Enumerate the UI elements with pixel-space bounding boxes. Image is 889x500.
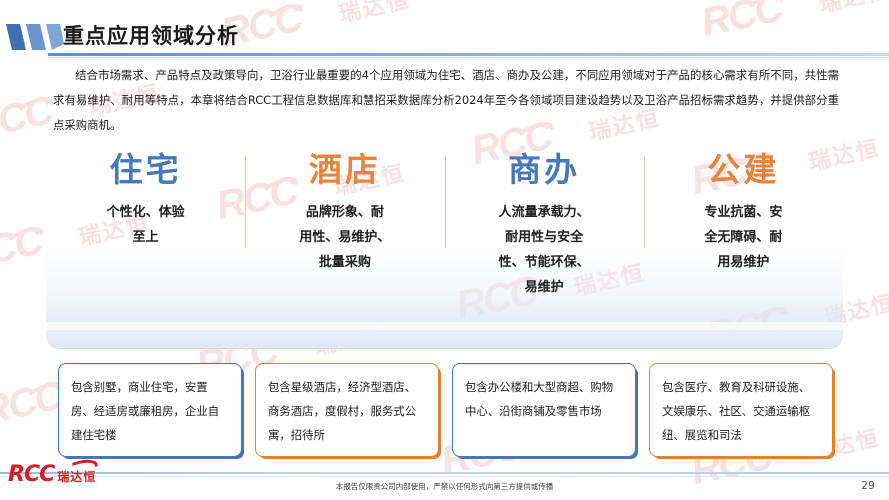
category-title: 酒店 xyxy=(253,150,436,190)
detail-box-public-building: 包含医疗、教育及科研设施、文娱康乐、社区、交通运输枢纽、展览和司法 xyxy=(649,363,833,457)
category-description: 专业抗菌、安 全无障碍、耐 用易维护 xyxy=(652,200,835,275)
detail-boxes: 包含别墅，商业住宅，安置房、经适房或廉租房，企业自建住宅楼 包含星级酒店，经济型… xyxy=(58,363,833,457)
double-chevron-mark-icon xyxy=(6,24,64,52)
slide-header: 重点应用领域分析 xyxy=(0,0,889,60)
category-description: 人流量承载力、 耐用性与安全 性、节能环保、 易维护 xyxy=(453,200,636,300)
intro-text: 结合市场需求、产品特点及政策导向，卫浴行业最重要的4个应用领域为住宅、酒店、商办… xyxy=(53,68,839,132)
header-divider xyxy=(48,53,889,56)
category-column-commercial-office: 商办 人流量承载力、 耐用性与安全 性、节能环保、 易维护 xyxy=(445,150,644,325)
category-description: 品牌形象、耐 用性、易维护、 批量采购 xyxy=(253,200,436,275)
background-panel-edge xyxy=(46,330,843,349)
category-column-hotel: 酒店 品牌形象、耐 用性、易维护、 批量采购 xyxy=(245,150,444,325)
category-title: 住宅 xyxy=(54,150,237,190)
page-number: 29 xyxy=(861,479,875,492)
footer-divider xyxy=(0,472,889,474)
intro-paragraph: 结合市场需求、产品特点及政策导向，卫浴行业最重要的4个应用领域为住宅、酒店、商办… xyxy=(53,63,839,138)
category-column-residential: 住宅 个性化、体验 至上 xyxy=(46,150,245,325)
category-title: 公建 xyxy=(652,150,835,190)
category-columns: 住宅 个性化、体验 至上 酒店 品牌形象、耐 用性、易维护、 批量采购 商办 人… xyxy=(46,150,843,325)
page-title: 重点应用领域分析 xyxy=(63,20,239,50)
category-title: 商办 xyxy=(453,150,636,190)
detail-box-residential: 包含别墅，商业住宅，安置房、经适房或廉租房，企业自建住宅楼 xyxy=(58,363,242,457)
footer-confidentiality-note: 本报告仅限贵公司内部使用，严禁以任何形式向第三方提供或传播 xyxy=(0,481,889,492)
header-divider-thin xyxy=(48,57,889,58)
category-description: 个性化、体验 至上 xyxy=(54,200,237,250)
category-column-public-building: 公建 专业抗菌、安 全无障碍、耐 用易维护 xyxy=(644,150,843,325)
detail-box-hotel: 包含星级酒店，经济型酒店、商务酒店，度假村，服务式公寓，招待所 xyxy=(255,363,439,457)
detail-box-commercial-office: 包含办公楼和大型商超、购物中心、沿街商铺及零售市场 xyxy=(452,363,636,457)
footer-divider-thin xyxy=(0,476,889,477)
